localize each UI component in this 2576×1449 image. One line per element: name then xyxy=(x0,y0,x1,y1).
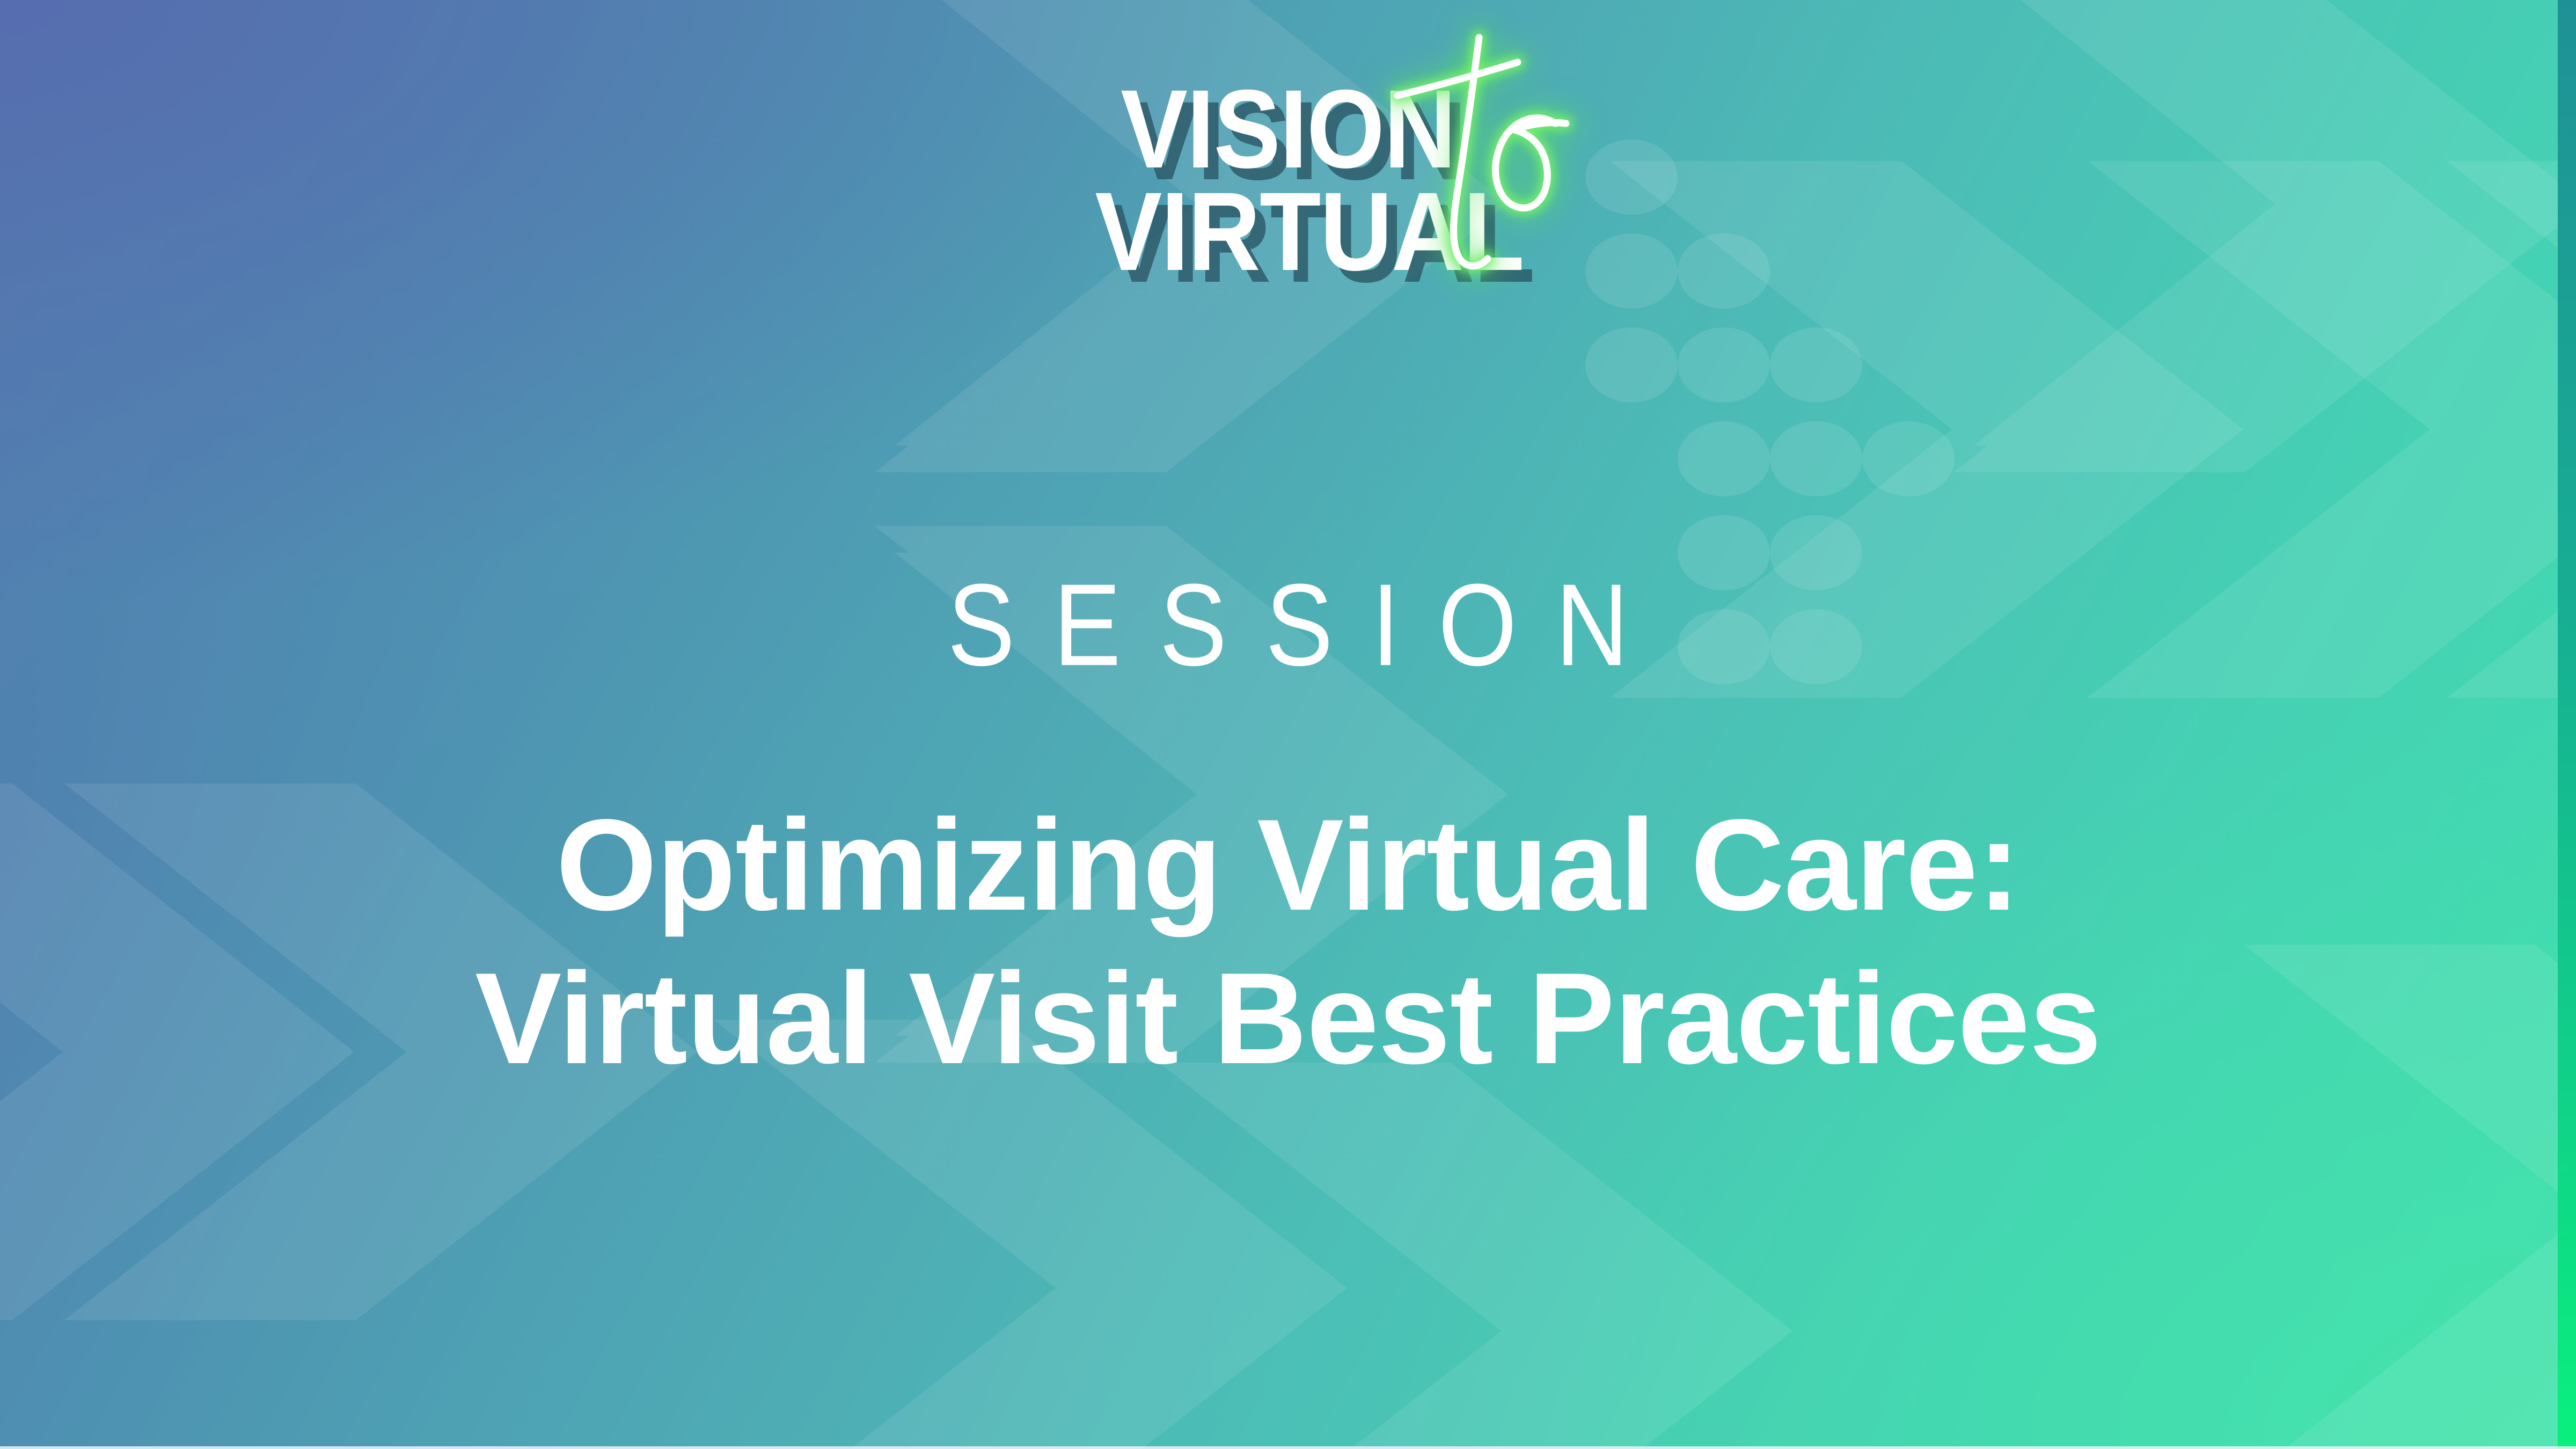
page-title-line-2: Virtual Visit Best Practices xyxy=(59,942,2517,1096)
dot-pattern-decoration xyxy=(0,0,2576,1449)
session-eyebrow-label: SESSION xyxy=(103,567,2473,683)
decorative-dot xyxy=(1678,233,1770,309)
decorative-dot xyxy=(1770,327,1862,402)
decorative-dot xyxy=(1770,421,1862,496)
decorative-dot xyxy=(1678,327,1770,402)
right-edge-accent-strip xyxy=(2558,0,2576,1449)
page-title: Optimizing Virtual Care: Virtual Visit B… xyxy=(0,789,2576,1095)
decorative-dot xyxy=(1862,421,1955,496)
decorative-dot xyxy=(1585,327,1678,402)
decorative-dot xyxy=(1678,421,1770,496)
title-slide: VISION VIRTUAL SESSION O xyxy=(0,0,2576,1449)
decorative-dot xyxy=(1585,140,1678,215)
decorative-dot xyxy=(1585,233,1678,309)
page-title-line-1: Optimizing Virtual Care: xyxy=(59,789,2517,942)
bottom-hairline xyxy=(0,1446,2576,1449)
